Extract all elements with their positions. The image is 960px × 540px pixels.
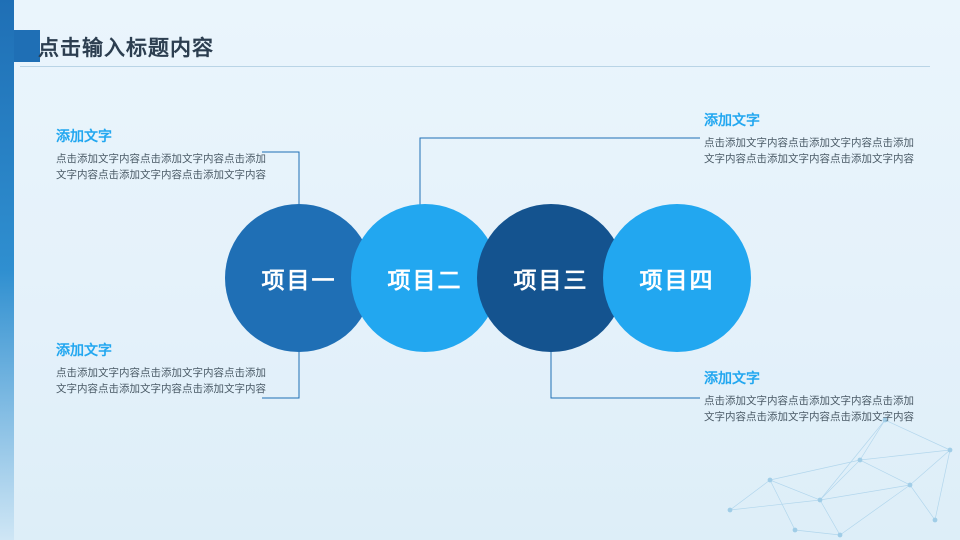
slide-canvas: 点击输入标题内容 项目一 项目二 项目三 项目四 添加文字 点击添加文字内容点击… <box>0 0 960 540</box>
network-decoration <box>700 390 960 540</box>
circle-item-4[interactable]: 项目四 <box>603 204 751 352</box>
text-block-bottom-left: 添加文字 点击添加文字内容点击添加文字内容点击添加文字内容点击添加文字内容点击添… <box>56 340 266 398</box>
text-block-top-right-heading: 添加文字 <box>704 110 914 130</box>
text-block-top-left-body: 点击添加文字内容点击添加文字内容点击添加文字内容点击添加文字内容点击添加文字内容 <box>56 151 266 184</box>
text-block-bottom-left-body: 点击添加文字内容点击添加文字内容点击添加文字内容点击添加文字内容点击添加文字内容 <box>56 365 266 398</box>
text-block-top-left-heading: 添加文字 <box>56 126 266 146</box>
text-block-bottom-left-heading: 添加文字 <box>56 340 266 360</box>
text-block-bottom-right-heading: 添加文字 <box>704 368 914 388</box>
circle-label-4: 项目四 <box>640 261 715 295</box>
text-block-top-right: 添加文字 点击添加文字内容点击添加文字内容点击添加文字内容点击添加文字内容点击添… <box>704 110 914 168</box>
circle-label-3: 项目三 <box>514 261 589 295</box>
circle-label-1: 项目一 <box>262 261 337 295</box>
circle-label-2: 项目二 <box>388 261 463 295</box>
text-block-top-left: 添加文字 点击添加文字内容点击添加文字内容点击添加文字内容点击添加文字内容点击添… <box>56 126 266 184</box>
text-block-top-right-body: 点击添加文字内容点击添加文字内容点击添加文字内容点击添加文字内容点击添加文字内容 <box>704 135 914 168</box>
